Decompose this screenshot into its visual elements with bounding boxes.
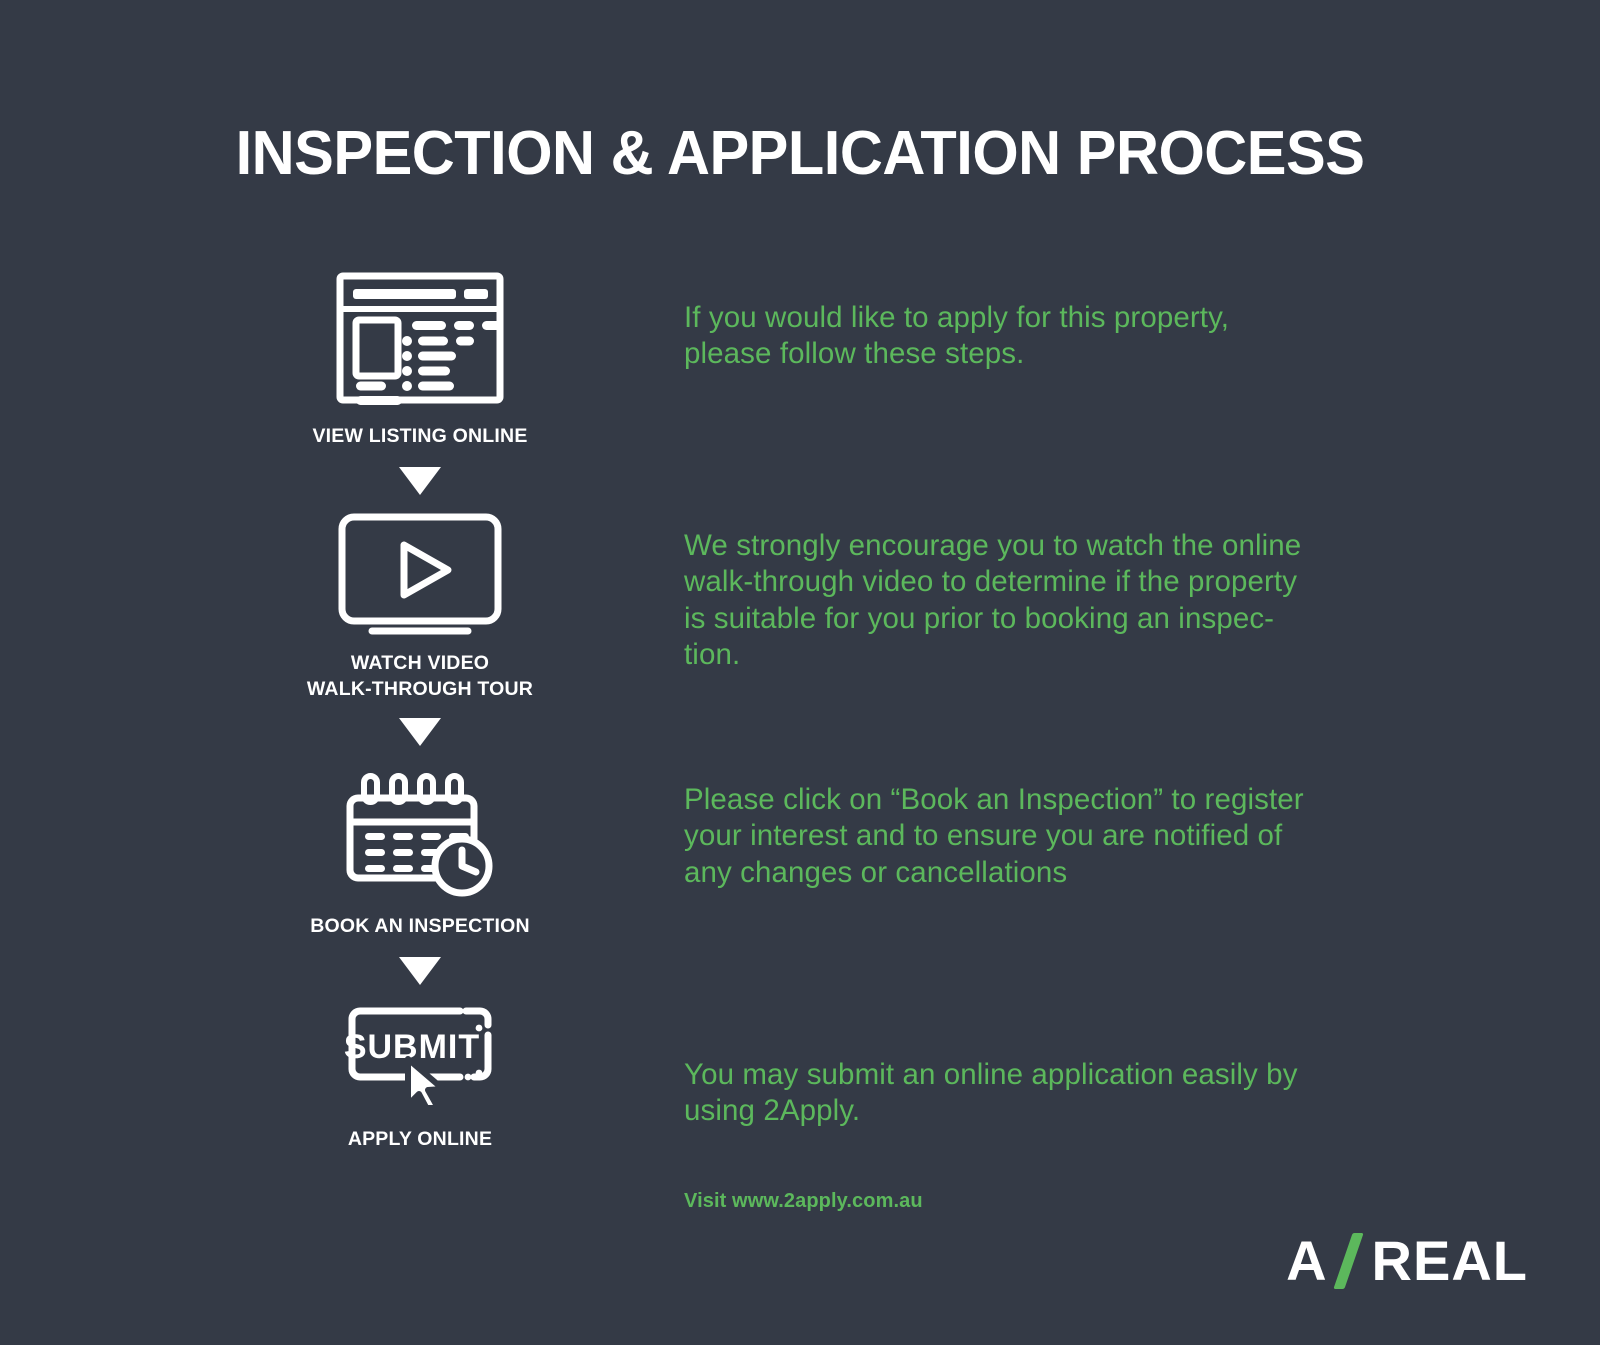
step-label: APPLY ONLINE <box>230 1127 610 1152</box>
step-label: WATCH VIDEO WALK-THROUGH TOUR <box>230 651 610 702</box>
step-book-inspection: BOOK AN INSPECTION <box>230 760 610 939</box>
logo-word-real: REAL <box>1372 1228 1528 1293</box>
step-watch-video: WATCH VIDEO WALK-THROUGH TOUR <box>230 511 610 702</box>
browser-listing-icon <box>230 262 610 412</box>
diagonal-slash-icon <box>1330 1233 1370 1289</box>
submit-button-cursor-icon: SUBMIT <box>230 1001 610 1105</box>
triangle-down-icon <box>230 957 610 985</box>
note-watch-video: We strongly encourage you to watch the o… <box>684 528 1301 673</box>
visit-website-link[interactable]: Visit www.2apply.com.au <box>684 1190 923 1213</box>
step-view-listing-online: VIEW LISTING ONLINE <box>230 262 610 449</box>
logo-letter-a: A <box>1286 1228 1327 1293</box>
step-label: BOOK AN INSPECTION <box>230 914 610 939</box>
note-apply-intro: If you would like to apply for this prop… <box>684 300 1229 373</box>
triangle-down-icon <box>230 718 610 746</box>
process-flow: VIEW LISTING ONLINE WATCH VIDEO WALK-THR… <box>230 262 610 1153</box>
video-player-icon <box>230 511 610 639</box>
note-book-inspection: Please click on “Book an Inspection” to … <box>684 782 1304 891</box>
brand-logo: A REAL <box>1286 1228 1528 1293</box>
step-apply-online: SUBMIT APPLY ONLINE <box>230 1001 610 1152</box>
step-label: VIEW LISTING ONLINE <box>230 424 610 449</box>
calendar-clock-icon <box>230 760 610 902</box>
page-title: INSPECTION & APPLICATION PROCESS <box>32 118 1568 189</box>
triangle-down-icon <box>230 467 610 495</box>
note-apply-online: You may submit an online application eas… <box>684 1057 1298 1130</box>
